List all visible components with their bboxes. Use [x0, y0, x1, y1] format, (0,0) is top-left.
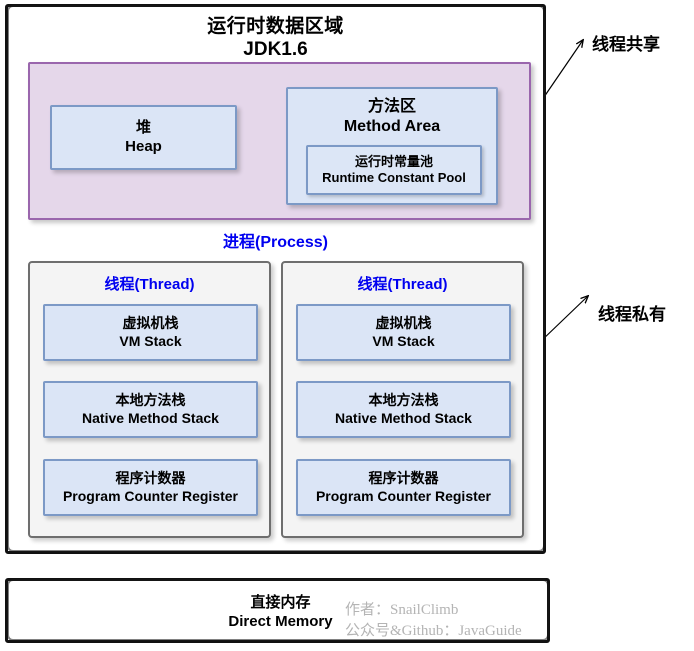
- native-method-stack-label-en: Native Method Stack: [335, 410, 472, 427]
- native-method-stack-box[interactable]: 本地方法栈 Native Method Stack: [43, 381, 258, 438]
- method-area-box[interactable]: 方法区 Method Area 运行时常量池 Runtime Constant …: [286, 87, 498, 205]
- watermark-account: 公众号&Github：JavaGuide: [345, 621, 522, 642]
- constant-pool-label-en: Runtime Constant Pool: [322, 170, 466, 186]
- vm-stack-box[interactable]: 虚拟机栈 VM Stack: [43, 304, 258, 361]
- heap-box[interactable]: 堆 Heap: [50, 105, 237, 170]
- runtime-data-area-container: 运行时数据区域 JDK1.6 堆 Heap 方法区 Method Area 运行…: [5, 4, 546, 554]
- program-counter-label-en: Program Counter Register: [63, 488, 238, 505]
- title-chinese: 运行时数据区域: [8, 15, 543, 38]
- heap-label-cn: 堆: [136, 119, 151, 138]
- constant-pool-label-cn: 运行时常量池: [355, 154, 433, 170]
- annotation-thread-shared: 线程共享: [592, 30, 660, 55]
- vm-stack-label-en: VM Stack: [372, 333, 434, 350]
- thread-box: 线程(Thread) 虚拟机栈 VM Stack 本地方法栈 Native Me…: [281, 261, 524, 538]
- watermark-author: 作者：SnailClimb: [345, 600, 522, 621]
- process-label: 进程(Process): [8, 228, 543, 252]
- thread-title: 线程(Thread): [30, 273, 269, 294]
- vm-stack-label-cn: 虚拟机栈: [376, 315, 432, 332]
- thread-shared-region: 堆 Heap 方法区 Method Area 运行时常量池 Runtime Co…: [28, 62, 531, 220]
- runtime-constant-pool-box[interactable]: 运行时常量池 Runtime Constant Pool: [306, 145, 482, 195]
- program-counter-register-box[interactable]: 程序计数器 Program Counter Register: [43, 459, 258, 516]
- program-counter-register-box[interactable]: 程序计数器 Program Counter Register: [296, 459, 511, 516]
- native-method-stack-label-cn: 本地方法栈: [116, 392, 186, 409]
- heap-label-en: Heap: [125, 138, 162, 157]
- thread-title: 线程(Thread): [283, 273, 522, 294]
- vm-stack-box[interactable]: 虚拟机栈 VM Stack: [296, 304, 511, 361]
- method-area-label-cn: 方法区: [368, 97, 416, 117]
- native-method-stack-box[interactable]: 本地方法栈 Native Method Stack: [296, 381, 511, 438]
- program-counter-label-en: Program Counter Register: [316, 488, 491, 505]
- annotation-thread-private: 线程私有: [598, 300, 666, 325]
- method-area-label-en: Method Area: [344, 117, 440, 137]
- native-method-stack-label-en: Native Method Stack: [82, 410, 219, 427]
- title-jdk-version: JDK1.6: [8, 38, 543, 61]
- native-method-stack-label-cn: 本地方法栈: [369, 392, 439, 409]
- program-counter-label-cn: 程序计数器: [369, 470, 439, 487]
- program-counter-label-cn: 程序计数器: [116, 470, 186, 487]
- runtime-data-area-title: 运行时数据区域 JDK1.6: [8, 15, 543, 61]
- thread-box: 线程(Thread) 虚拟机栈 VM Stack 本地方法栈 Native Me…: [28, 261, 271, 538]
- watermark: 作者：SnailClimb 公众号&Github：JavaGuide: [345, 600, 522, 643]
- vm-stack-label-en: VM Stack: [119, 333, 181, 350]
- vm-stack-label-cn: 虚拟机栈: [123, 315, 179, 332]
